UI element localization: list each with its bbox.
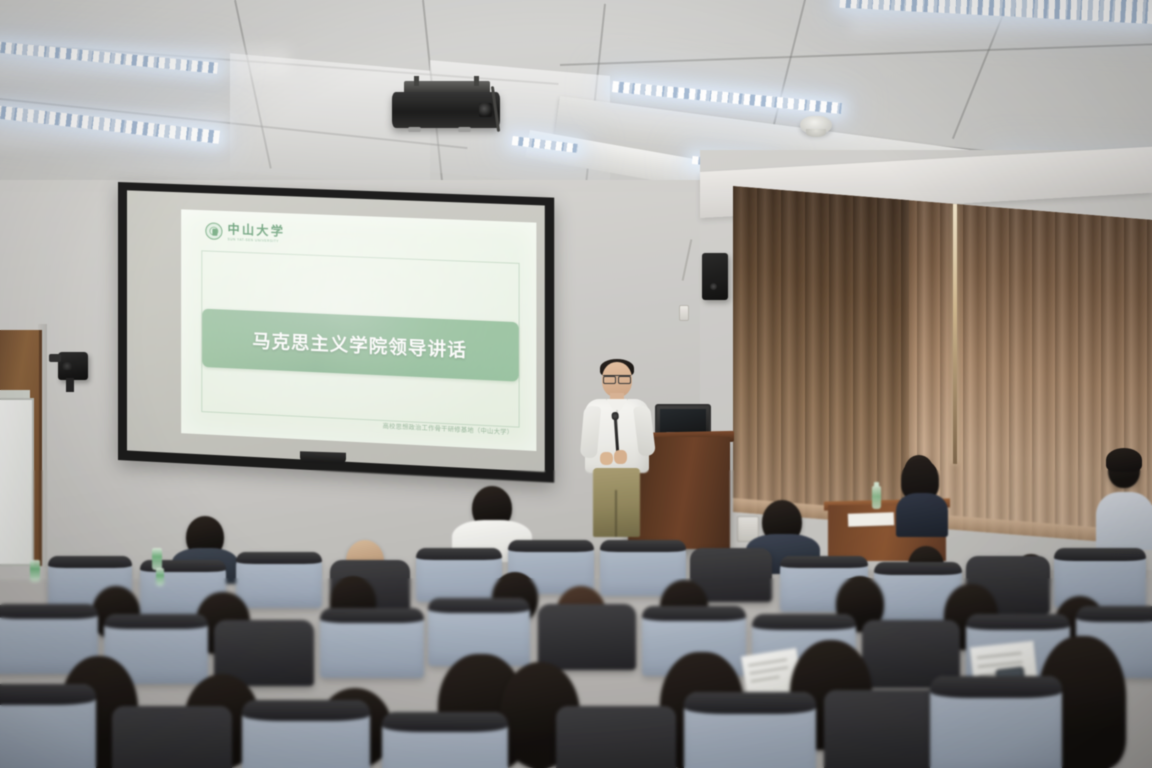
seat-top-rail	[236, 552, 322, 564]
water-bottle	[156, 568, 164, 586]
seat-top-rail	[874, 562, 962, 575]
university-name-cn: 中山大学	[228, 223, 286, 237]
paper-text-line	[749, 666, 788, 674]
ceiling-projector	[392, 92, 500, 128]
attendee-torso	[1096, 492, 1152, 550]
auditorium-seat[interactable]	[382, 712, 508, 768]
seat-top-rail	[320, 608, 424, 623]
seat-top-rail	[684, 692, 816, 714]
whiteboard	[0, 398, 34, 566]
seat-top-rail	[966, 614, 1070, 630]
screen-roller-housing	[300, 451, 346, 464]
curtain-light-gap	[953, 204, 957, 464]
university-name-en: SUN YAT-SEN UNIVERSITY	[228, 238, 286, 243]
paper-text-line	[977, 652, 1022, 658]
presenter-hand-right	[614, 450, 627, 464]
handout-paper	[848, 512, 894, 527]
presenter	[580, 362, 654, 537]
seat-top-rail	[930, 676, 1062, 698]
screen-surface: 中山大学 SUN YAT-SEN UNIVERSITY 马克思主义学院领导讲话 …	[127, 190, 545, 472]
projector-arm	[414, 76, 419, 86]
presentation-slide: 中山大学 SUN YAT-SEN UNIVERSITY 马克思主义学院领导讲话 …	[181, 209, 536, 451]
speaker-bracket	[66, 378, 74, 392]
auditorium-seat[interactable]	[930, 676, 1062, 768]
presenter-hand-left	[600, 452, 613, 465]
auditorium-seat-dark[interactable]	[556, 706, 676, 768]
seat-top-rail	[428, 598, 530, 613]
seat-top-rail	[382, 712, 508, 732]
seat-top-rail	[600, 540, 686, 552]
auditorium-seat-dark[interactable]	[112, 706, 232, 768]
presenter-glasses	[603, 375, 631, 381]
attendee-side-desk	[896, 455, 948, 533]
wall-control-plate[interactable]	[679, 305, 689, 321]
seat-top-rail	[1054, 548, 1146, 561]
auditorium-seat[interactable]	[242, 700, 370, 768]
seat-top-rail	[242, 700, 370, 721]
projector-arm	[474, 76, 479, 86]
university-logo: 中山大学 SUN YAT-SEN UNIVERSITY	[205, 222, 285, 243]
attendee-far-right	[1098, 452, 1152, 548]
presenter-leg-seam	[615, 490, 617, 537]
seat-top-rail	[104, 614, 208, 629]
water-bottle	[152, 548, 162, 570]
paper-text-line	[748, 659, 787, 667]
seat-top-rail	[1076, 606, 1152, 622]
wall-speaker-left	[58, 352, 88, 380]
seat-top-rail	[780, 556, 868, 568]
seat-top-rail	[48, 556, 132, 568]
attendee-bun-hair	[1106, 448, 1142, 472]
paper-text-line	[750, 676, 779, 682]
projection-screen: 中山大学 SUN YAT-SEN UNIVERSITY 马克思主义学院领导讲话 …	[118, 182, 554, 483]
attendee-torso	[896, 493, 948, 537]
water-bottle	[30, 560, 40, 582]
university-emblem-icon	[205, 223, 222, 241]
slide-title: 马克思主义学院领导讲话	[252, 327, 467, 363]
auditorium-seat-dark[interactable]	[824, 690, 946, 768]
wall-speaker-right	[702, 253, 728, 300]
seat-top-rail	[0, 684, 96, 705]
auditorium-seat-dark[interactable]	[538, 604, 636, 670]
seat-top-rail	[508, 540, 594, 552]
water-bottle	[872, 486, 881, 509]
ceiling-grid-line	[560, 43, 1152, 66]
seat-top-rail	[642, 606, 746, 621]
seat-top-rail	[752, 614, 856, 630]
seat-top-rail	[0, 604, 98, 619]
projector-foot	[458, 127, 471, 132]
auditorium-seat[interactable]	[0, 684, 96, 768]
lecture-hall-photo: 中山大学 SUN YAT-SEN UNIVERSITY 马克思主义学院领导讲话 …	[0, 0, 1152, 768]
seat-top-rail	[416, 548, 502, 560]
auditorium-seat[interactable]	[320, 608, 424, 678]
auditorium-seat[interactable]	[684, 692, 816, 768]
projector-foot	[408, 127, 421, 132]
auditorium-seat[interactable]	[236, 552, 322, 608]
smoke-detector	[800, 116, 832, 134]
curtain-panel-left	[733, 186, 909, 526]
auditorium-seat[interactable]	[416, 548, 502, 602]
projector-lens	[479, 103, 492, 117]
